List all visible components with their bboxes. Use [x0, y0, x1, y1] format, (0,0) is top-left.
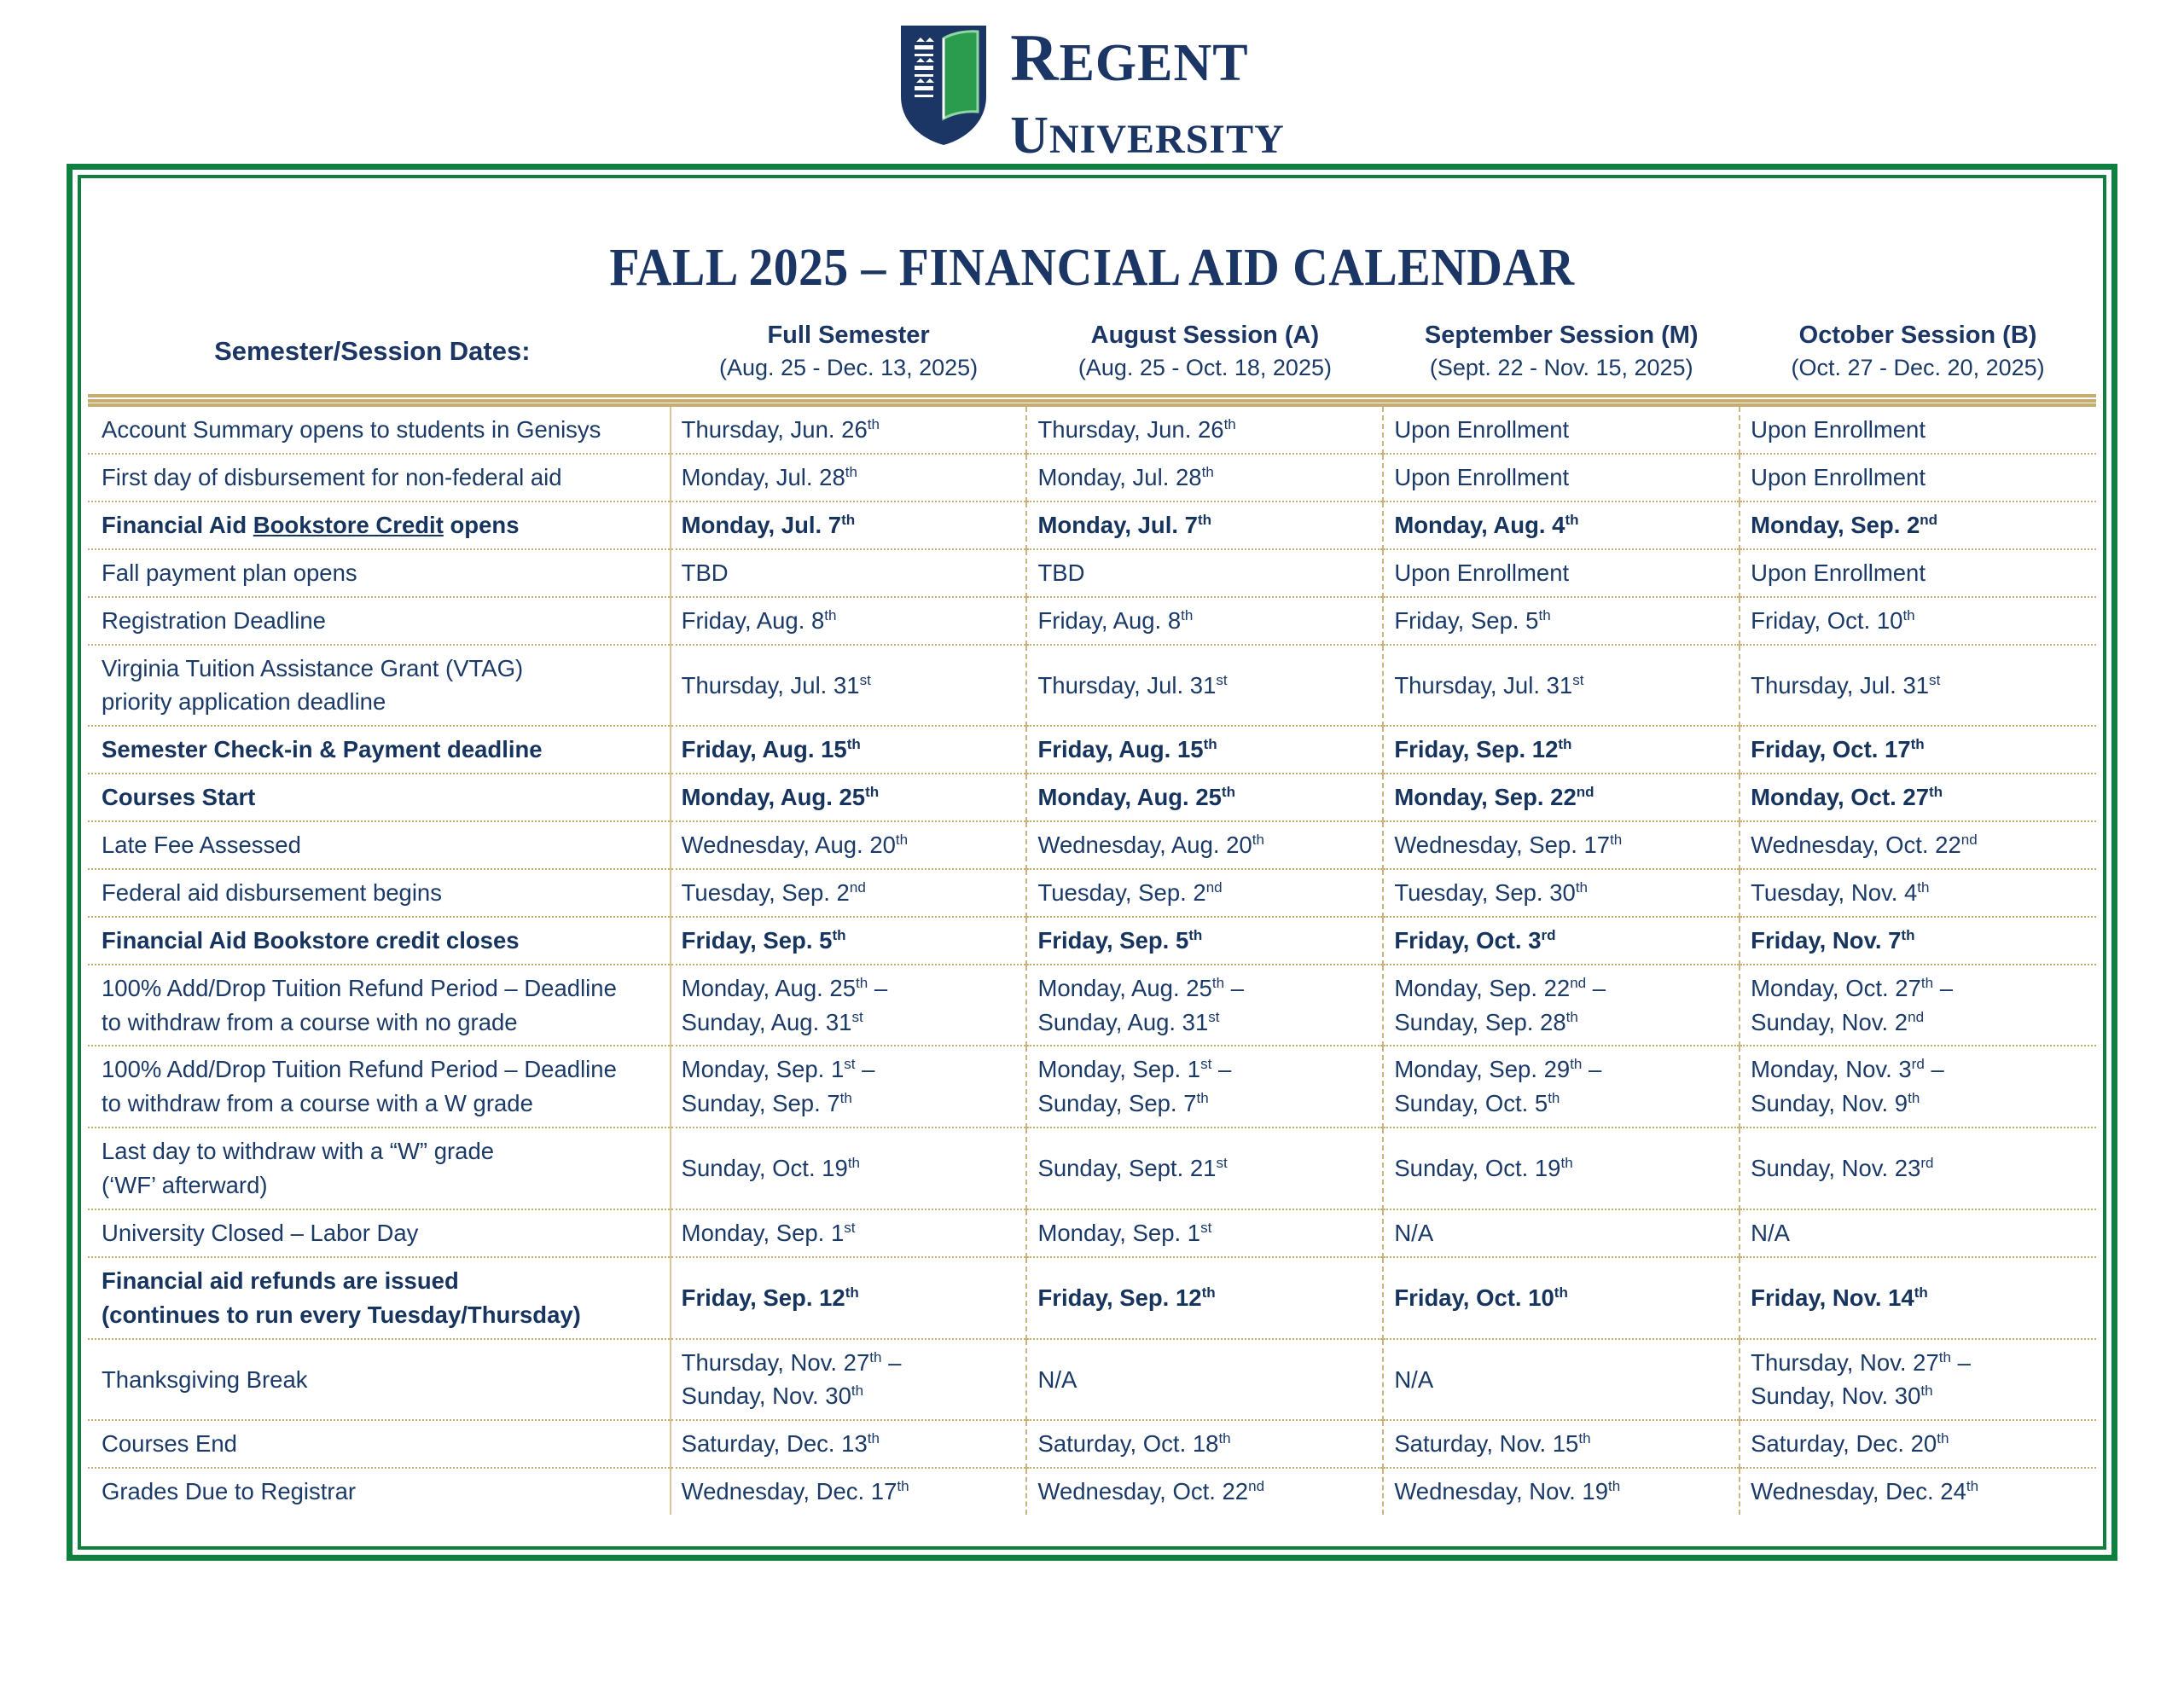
table-row: Registration DeadlineFriday, Aug. 8thFri… — [88, 597, 2096, 645]
calendar-frame-outer: FALL 2025 – FINANCIAL AID CALENDAR Semes… — [67, 164, 2117, 1561]
cell-full-semester: Friday, Sep. 12th — [671, 1257, 1027, 1339]
cell-october-session: Thursday, Jul. 31st — [1740, 645, 2096, 727]
cell-august-session: Thursday, Jul. 31st — [1026, 645, 1383, 727]
row-label: Late Fee Assessed — [88, 821, 671, 869]
cell-september-session: Sunday, Oct. 19th — [1383, 1128, 1740, 1209]
column-range: (Sept. 22 - Nov. 15, 2025) — [1391, 354, 1731, 381]
row-label: Grades Due to Registrar — [88, 1468, 671, 1515]
logo-wordmark: Regent University — [1010, 5, 1285, 164]
row-label: Federal aid disbursement begins — [88, 869, 671, 917]
cell-august-session: Friday, Sep. 5th — [1026, 917, 1383, 965]
cell-september-session: N/A — [1383, 1339, 1740, 1421]
table-row: Thanksgiving BreakThursday, Nov. 27th –S… — [88, 1339, 2096, 1421]
cell-october-session: Upon Enrollment — [1740, 454, 2096, 501]
table-row: Account Summary opens to students in Gen… — [88, 407, 2096, 454]
cell-september-session: Friday, Oct. 3rd — [1383, 917, 1740, 965]
row-label: Account Summary opens to students in Gen… — [88, 407, 671, 454]
cell-august-session: TBD — [1026, 549, 1383, 597]
header-separator-band — [88, 393, 2096, 407]
cell-september-session: Monday, Sep. 22nd –Sunday, Sep. 28th — [1383, 965, 1740, 1046]
cell-full-semester: Friday, Aug. 15th — [671, 726, 1027, 774]
cell-october-session: Monday, Oct. 27th — [1740, 774, 2096, 821]
cell-august-session: Thursday, Jun. 26th — [1026, 407, 1383, 454]
cell-october-session: Friday, Nov. 14th — [1740, 1257, 2096, 1339]
cell-october-session: Wednesday, Oct. 22nd — [1740, 821, 2096, 869]
cell-august-session: Monday, Jul. 28th — [1026, 454, 1383, 501]
row-label: Semester Check-in & Payment deadline — [88, 726, 671, 774]
row-label: Virginia Tuition Assistance Grant (VTAG)… — [88, 645, 671, 727]
table-row: 100% Add/Drop Tuition Refund Period – De… — [88, 1046, 2096, 1128]
cell-september-session: Upon Enrollment — [1383, 549, 1740, 597]
cell-october-session: Tuesday, Nov. 4th — [1740, 869, 2096, 917]
cell-full-semester: Thursday, Nov. 27th –Sunday, Nov. 30th — [671, 1339, 1027, 1421]
cell-august-session: Monday, Jul. 7th — [1026, 501, 1383, 549]
cell-september-session: Thursday, Jul. 31st — [1383, 645, 1740, 727]
cell-august-session: Friday, Aug. 15th — [1026, 726, 1383, 774]
table-row: Courses EndSaturday, Dec. 13thSaturday, … — [88, 1420, 2096, 1468]
column-header-october-session: October Session (B) (Oct. 27 - Dec. 20, … — [1740, 317, 2096, 393]
cell-september-session: Saturday, Nov. 15th — [1383, 1420, 1740, 1468]
regent-university-logo: Regent University — [0, 12, 2184, 157]
logo-name-university: University — [1010, 95, 1285, 164]
row-label: University Closed – Labor Day — [88, 1209, 671, 1257]
column-name: September Session (M) — [1425, 322, 1699, 349]
financial-aid-calendar-table: Semester/Session Dates: Full Semester (A… — [88, 317, 2096, 1515]
table-row: Semester Check-in & Payment deadlineFrid… — [88, 726, 2096, 774]
cell-full-semester: Monday, Jul. 28th — [671, 454, 1027, 501]
column-header-full-semester: Full Semester (Aug. 25 - Dec. 13, 2025) — [671, 317, 1027, 393]
cell-september-session: Friday, Sep. 5th — [1383, 597, 1740, 645]
cell-october-session: Wednesday, Dec. 24th — [1740, 1468, 2096, 1515]
cell-september-session: Monday, Aug. 4th — [1383, 501, 1740, 549]
table-row: Last day to withdraw with a “W” grade(‘W… — [88, 1128, 2096, 1209]
cell-full-semester: Tuesday, Sep. 2nd — [671, 869, 1027, 917]
cell-full-semester: Monday, Aug. 25th –Sunday, Aug. 31st — [671, 965, 1027, 1046]
financial-aid-calendar-page: Regent University FALL 2025 – FINANCIAL … — [0, 0, 2184, 1687]
cell-full-semester: Friday, Sep. 5th — [671, 917, 1027, 965]
row-label: Courses End — [88, 1420, 671, 1468]
row-label: 100% Add/Drop Tuition Refund Period – De… — [88, 1046, 671, 1128]
table-header: Semester/Session Dates: Full Semester (A… — [88, 317, 2096, 407]
cell-august-session: Monday, Sep. 1st –Sunday, Sep. 7th — [1026, 1046, 1383, 1128]
page-title: FALL 2025 – FINANCIAL AID CALENDAR — [158, 238, 2025, 299]
cell-full-semester: Monday, Aug. 25th — [671, 774, 1027, 821]
table-row: Courses StartMonday, Aug. 25thMonday, Au… — [88, 774, 2096, 821]
cell-october-session: Monday, Sep. 2nd — [1740, 501, 2096, 549]
cell-october-session: Upon Enrollment — [1740, 549, 2096, 597]
cell-full-semester: TBD — [671, 549, 1027, 597]
cell-october-session: Upon Enrollment — [1740, 407, 2096, 454]
logo-name-regent: Regent — [1010, 5, 1248, 93]
cell-august-session: Monday, Aug. 25th — [1026, 774, 1383, 821]
table-row: Grades Due to RegistrarWednesday, Dec. 1… — [88, 1468, 2096, 1515]
cell-full-semester: Friday, Aug. 8th — [671, 597, 1027, 645]
cell-october-session: Friday, Oct. 10th — [1740, 597, 2096, 645]
row-label: Thanksgiving Break — [88, 1339, 671, 1421]
cell-august-session: Saturday, Oct. 18th — [1026, 1420, 1383, 1468]
cell-full-semester: Monday, Jul. 7th — [671, 501, 1027, 549]
cell-october-session: Friday, Oct. 17th — [1740, 726, 2096, 774]
row-label: Financial Aid Bookstore Credit opens — [88, 501, 671, 549]
table-row: 100% Add/Drop Tuition Refund Period – De… — [88, 965, 2096, 1046]
cell-september-session: Friday, Sep. 12th — [1383, 726, 1740, 774]
table-row: Federal aid disbursement beginsTuesday, … — [88, 869, 2096, 917]
cell-full-semester: Thursday, Jul. 31st — [671, 645, 1027, 727]
row-label: Registration Deadline — [88, 597, 671, 645]
shield-book-icon — [899, 23, 988, 147]
cell-august-session: Sunday, Sept. 21st — [1026, 1128, 1383, 1209]
cell-september-session: Upon Enrollment — [1383, 454, 1740, 501]
cell-september-session: Wednesday, Nov. 19th — [1383, 1468, 1740, 1515]
cell-october-session: N/A — [1740, 1209, 2096, 1257]
cell-august-session: Monday, Aug. 25th –Sunday, Aug. 31st — [1026, 965, 1383, 1046]
cell-august-session: N/A — [1026, 1339, 1383, 1421]
gold-band-cell — [88, 393, 2096, 407]
table-row: University Closed – Labor DayMonday, Sep… — [88, 1209, 2096, 1257]
cell-september-session: Upon Enrollment — [1383, 407, 1740, 454]
cell-october-session: Saturday, Dec. 20th — [1740, 1420, 2096, 1468]
cell-october-session: Sunday, Nov. 23rd — [1740, 1128, 2096, 1209]
table-body: Account Summary opens to students in Gen… — [88, 407, 2096, 1515]
cell-august-session: Tuesday, Sep. 2nd — [1026, 869, 1383, 917]
column-header-september-session: September Session (M) (Sept. 22 - Nov. 1… — [1383, 317, 1740, 393]
header-row: Semester/Session Dates: Full Semester (A… — [88, 317, 2096, 393]
cell-full-semester: Thursday, Jun. 26th — [671, 407, 1027, 454]
cell-full-semester: Sunday, Oct. 19th — [671, 1128, 1027, 1209]
cell-september-session: Monday, Sep. 22nd — [1383, 774, 1740, 821]
calendar-content: FALL 2025 – FINANCIAL AID CALENDAR Semes… — [88, 185, 2096, 1539]
column-range: (Aug. 25 - Dec. 13, 2025) — [679, 354, 1019, 381]
column-range: (Aug. 25 - Oct. 18, 2025) — [1035, 354, 1374, 381]
row-label: Last day to withdraw with a “W” grade(‘W… — [88, 1128, 671, 1209]
gold-band — [88, 393, 2096, 407]
row-label: First day of disbursement for non-federa… — [88, 454, 671, 501]
table-row: Financial aid refunds are issued(continu… — [88, 1257, 2096, 1339]
cell-october-session: Thursday, Nov. 27th –Sunday, Nov. 30th — [1740, 1339, 2096, 1421]
cell-full-semester: Wednesday, Aug. 20th — [671, 821, 1027, 869]
row-label: Financial Aid Bookstore credit closes — [88, 917, 671, 965]
column-header-august-session: August Session (A) (Aug. 25 - Oct. 18, 2… — [1026, 317, 1383, 393]
row-label: Fall payment plan opens — [88, 549, 671, 597]
cell-september-session: Wednesday, Sep. 17th — [1383, 821, 1740, 869]
row-label: 100% Add/Drop Tuition Refund Period – De… — [88, 965, 671, 1046]
cell-august-session: Monday, Sep. 1st — [1026, 1209, 1383, 1257]
table-row: First day of disbursement for non-federa… — [88, 454, 2096, 501]
cell-october-session: Monday, Nov. 3rd –Sunday, Nov. 9th — [1740, 1046, 2096, 1128]
cell-october-session: Monday, Oct. 27th –Sunday, Nov. 2nd — [1740, 965, 2096, 1046]
cell-full-semester: Wednesday, Dec. 17th — [671, 1468, 1027, 1515]
column-range: (Oct. 27 - Dec. 20, 2025) — [1748, 354, 2088, 381]
column-name: August Session (A) — [1091, 322, 1319, 349]
table-row: Virginia Tuition Assistance Grant (VTAG)… — [88, 645, 2096, 727]
row-label: Financial aid refunds are issued(continu… — [88, 1257, 671, 1339]
cell-october-session: Friday, Nov. 7th — [1740, 917, 2096, 965]
table-row: Financial Aid Bookstore Credit opensMond… — [88, 501, 2096, 549]
cell-september-session: Monday, Sep. 29th –Sunday, Oct. 5th — [1383, 1046, 1740, 1128]
cell-august-session: Wednesday, Oct. 22nd — [1026, 1468, 1383, 1515]
cell-august-session: Wednesday, Aug. 20th — [1026, 821, 1383, 869]
table-row: Fall payment plan opensTBDTBDUpon Enroll… — [88, 549, 2096, 597]
cell-full-semester: Monday, Sep. 1st — [671, 1209, 1027, 1257]
column-name: October Session (B) — [1799, 322, 2037, 349]
cell-august-session: Friday, Sep. 12th — [1026, 1257, 1383, 1339]
column-header-session-dates: Semester/Session Dates: — [88, 317, 671, 393]
column-name: Full Semester — [767, 322, 929, 349]
cell-full-semester: Saturday, Dec. 13th — [671, 1420, 1027, 1468]
row-label: Courses Start — [88, 774, 671, 821]
cell-september-session: N/A — [1383, 1209, 1740, 1257]
cell-september-session: Friday, Oct. 10th — [1383, 1257, 1740, 1339]
table-row: Financial Aid Bookstore credit closesFri… — [88, 917, 2096, 965]
cell-september-session: Tuesday, Sep. 30th — [1383, 869, 1740, 917]
cell-full-semester: Monday, Sep. 1st –Sunday, Sep. 7th — [671, 1046, 1027, 1128]
table-row: Late Fee AssessedWednesday, Aug. 20thWed… — [88, 821, 2096, 869]
cell-august-session: Friday, Aug. 8th — [1026, 597, 1383, 645]
